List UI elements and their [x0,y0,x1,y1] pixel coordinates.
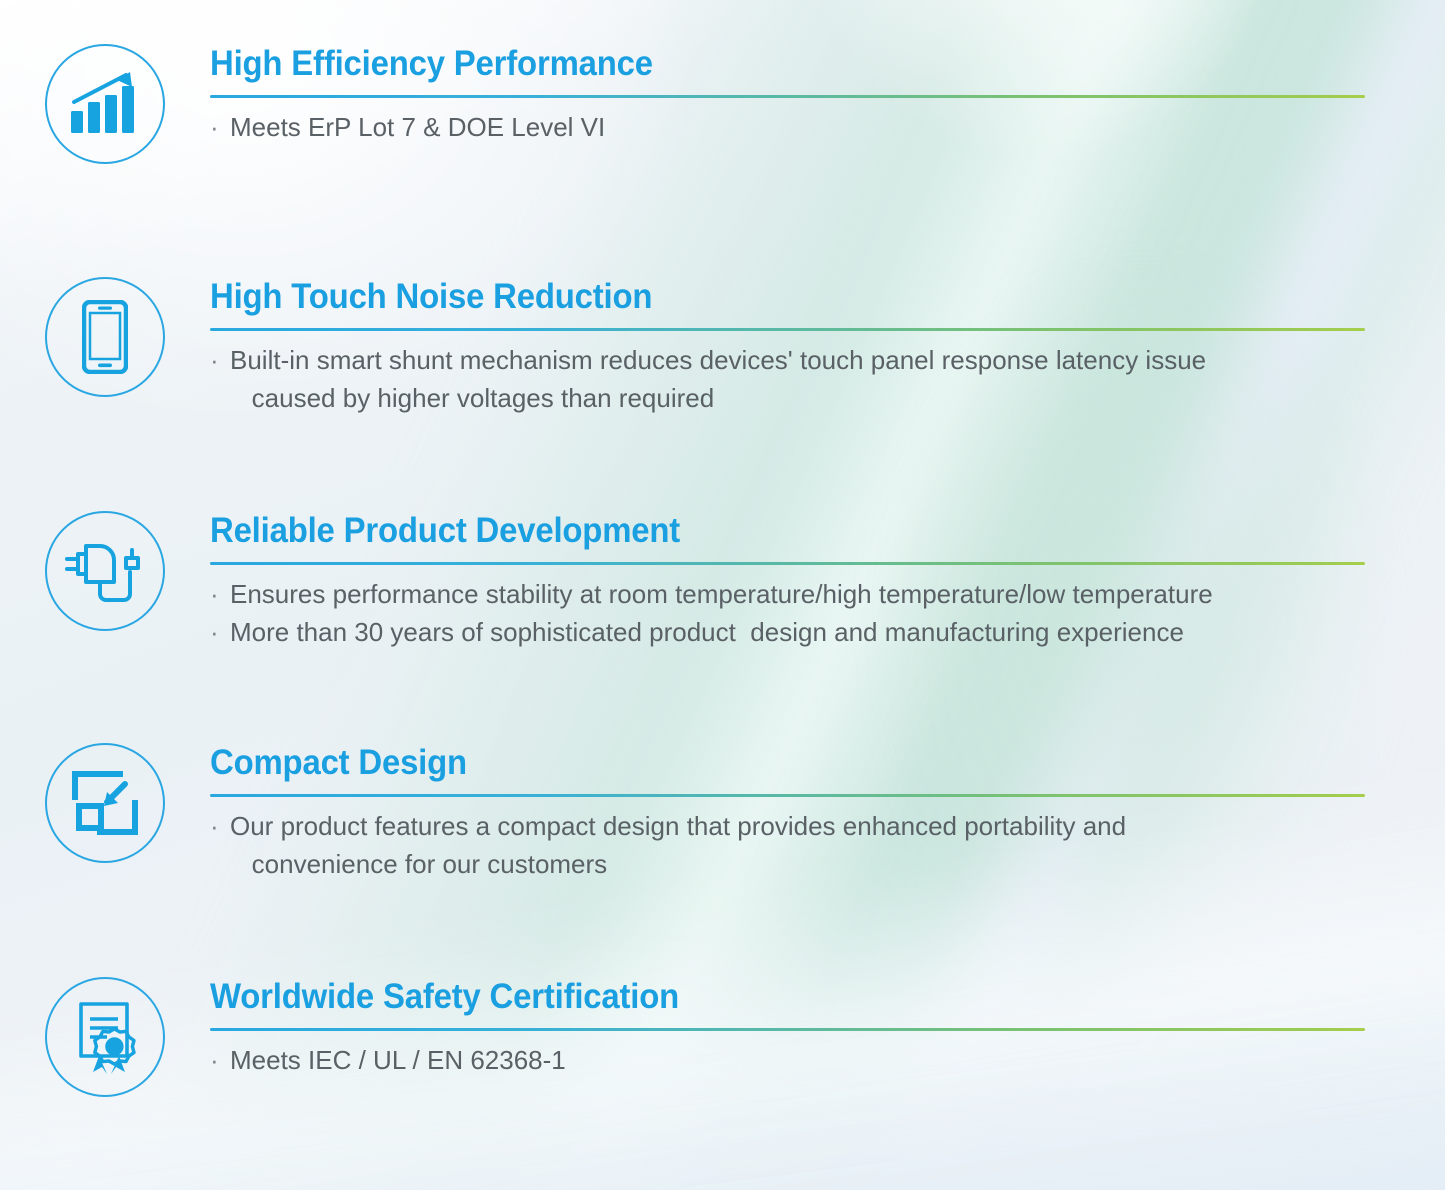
feature-icon-cell [0,277,210,397]
feature-text-cell: High Touch Noise Reduction ·Built-in sma… [210,277,1445,417]
feature-bullet-text: Meets IEC / UL / EN 62368-1 [230,1045,566,1075]
feature-bullet-item: ·More than 30 years of sophisticated pro… [210,613,1365,651]
feature-bullet-item: ·Ensures performance stability at room t… [210,575,1365,613]
power-adapter-icon [45,511,165,631]
feature-bullet-list: ·Built-in smart shunt mechanism reduces … [210,341,1365,417]
feature-title: Compact Design [210,743,1296,783]
feature-divider [210,794,1365,797]
feature-list: High Efficiency Performance ·Meets ErP L… [0,0,1445,1190]
feature-icon-cell [0,511,210,631]
feature-text-cell: Reliable Product Development ·Ensures pe… [210,511,1445,651]
bullet-marker: · [210,341,219,379]
bullet-marker: · [210,807,219,845]
feature-divider [210,95,1365,98]
feature-text-cell: Worldwide Safety Certification ·Meets IE… [210,977,1445,1079]
feature-bullet-list: ·Meets IEC / UL / EN 62368-1 [210,1041,1365,1079]
feature-bullet-item: ·Meets ErP Lot 7 & DOE Level VI [210,108,1365,146]
feature-divider [210,1028,1365,1031]
feature-title: High Efficiency Performance [210,44,1296,84]
feature-bullet-text: Our product features a compact design th… [230,811,1126,879]
smartphone-icon [45,277,165,397]
feature-bullet-list: ·Ensures performance stability at room t… [210,575,1365,651]
feature-bullet-text: Ensures performance stability at room te… [230,579,1213,609]
feature-bullet-item: ·Meets IEC / UL / EN 62368-1 [210,1041,1365,1079]
compact-resize-icon [45,743,165,863]
feature-bullet-item: ·Our product features a compact design t… [210,807,1365,883]
feature-list-page: High Efficiency Performance ·Meets ErP L… [0,0,1445,1190]
feature-icon-cell [0,44,210,164]
feature-icon-cell [0,743,210,863]
feature-text-cell: Compact Design ·Our product features a c… [210,743,1445,883]
bullet-marker: · [210,108,219,146]
feature-title: Reliable Product Development [210,511,1296,551]
feature-bullet-list: ·Meets ErP Lot 7 & DOE Level VI [210,108,1365,146]
feature-row: Worldwide Safety Certification ·Meets IE… [0,977,1445,1097]
feature-bullet-item: ·Built-in smart shunt mechanism reduces … [210,341,1365,417]
feature-row: Reliable Product Development ·Ensures pe… [0,511,1445,651]
bullet-marker: · [210,613,219,651]
feature-title: Worldwide Safety Certification [210,977,1296,1017]
feature-row: High Efficiency Performance ·Meets ErP L… [0,44,1445,164]
feature-title: High Touch Noise Reduction [210,277,1296,317]
bullet-marker: · [210,1041,219,1079]
bullet-marker: · [210,575,219,613]
feature-divider [210,562,1365,565]
feature-row: High Touch Noise Reduction ·Built-in sma… [0,277,1445,417]
feature-bullet-text: Built-in smart shunt mechanism reduces d… [230,345,1206,413]
certificate-award-icon [45,977,165,1097]
feature-divider [210,328,1365,331]
feature-bullet-text: Meets ErP Lot 7 & DOE Level VI [230,112,605,142]
feature-bullet-text: More than 30 years of sophisticated prod… [230,617,1184,647]
feature-bullet-list: ·Our product features a compact design t… [210,807,1365,883]
bar-chart-growth-icon [45,44,165,164]
feature-icon-cell [0,977,210,1097]
feature-row: Compact Design ·Our product features a c… [0,743,1445,883]
feature-text-cell: High Efficiency Performance ·Meets ErP L… [210,44,1445,146]
